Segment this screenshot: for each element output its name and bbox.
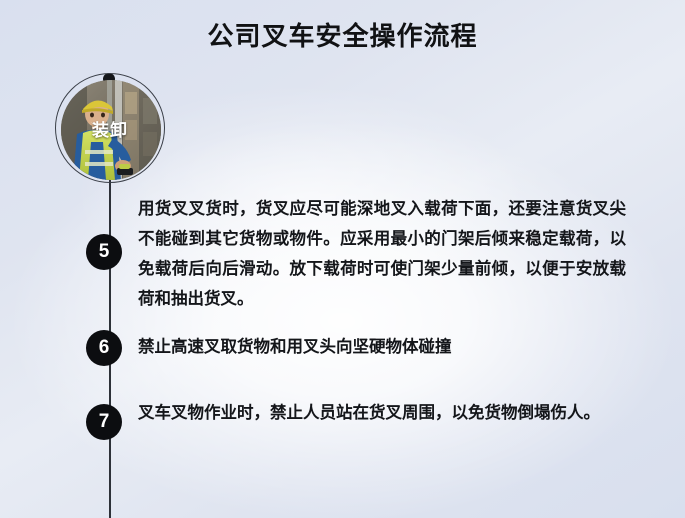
step-text-7: 叉车叉物作业时，禁止人员站在货叉周围，以免货物倒塌伤人。: [138, 398, 626, 428]
step-number-badge-7: 7: [86, 404, 122, 440]
step-text-6: 禁止高速叉取货物和用叉头向坚硬物体碰撞: [138, 332, 626, 362]
photo-caption-label: 装卸: [52, 116, 168, 141]
step-number-badge-5: 5: [86, 234, 122, 270]
photo-circle-node: 装卸: [52, 72, 168, 188]
step-text-5: 用货叉叉货时，货叉应尽可能深地叉入载荷下面，还要注意货叉尖不能碰到其它货物或物件…: [138, 194, 626, 314]
page-title: 公司叉车安全操作流程: [0, 20, 685, 52]
slide-canvas: 公司叉车安全操作流程: [0, 0, 685, 518]
step-number-badge-6: 6: [86, 330, 122, 366]
